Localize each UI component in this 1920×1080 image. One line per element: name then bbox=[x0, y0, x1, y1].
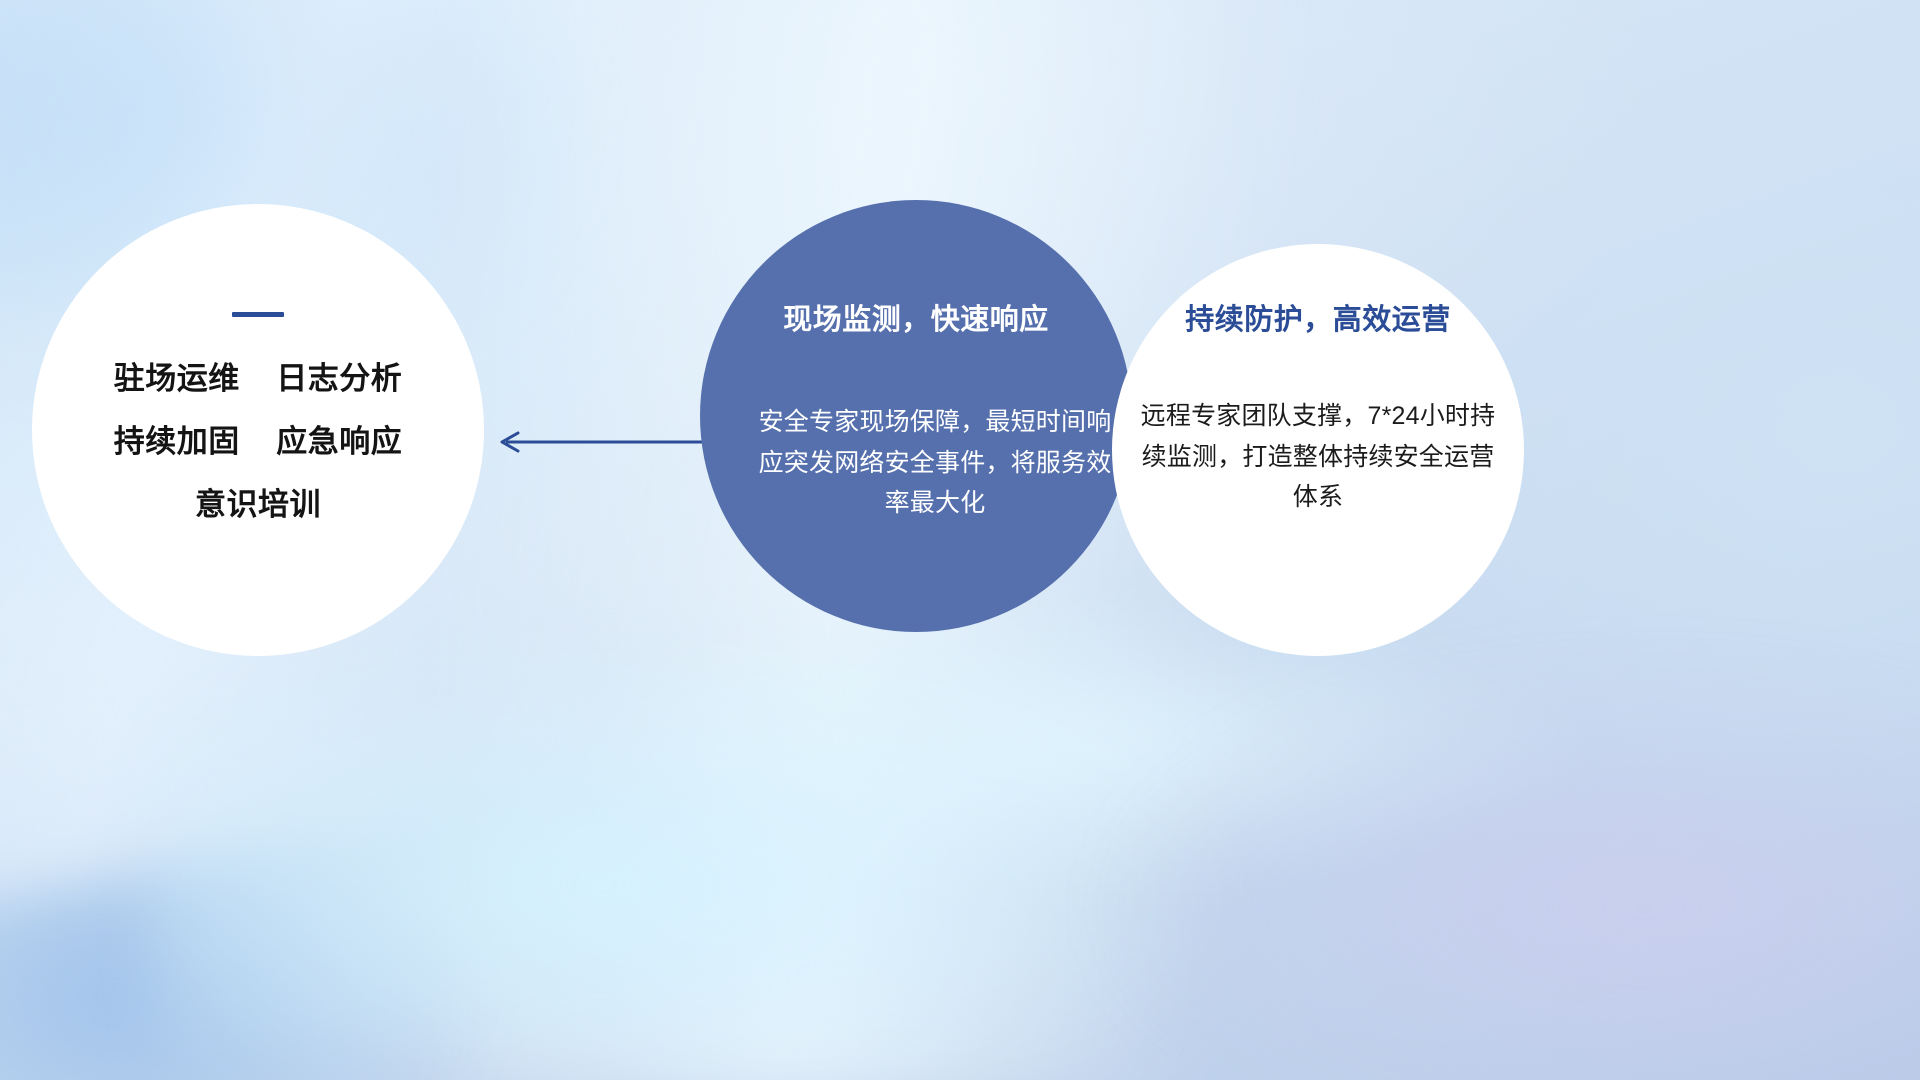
capability-line-3: 意识培训 bbox=[32, 489, 484, 520]
continuous-protection-title: 持续防护，高效运营 bbox=[1112, 296, 1524, 338]
onsite-monitoring-title: 现场监测，快速响应 bbox=[700, 296, 1132, 338]
onsite-monitoring-body: 安全专家现场保障，最短时间响应突发网络安全事件，将服务效率最大化 bbox=[752, 402, 1118, 524]
continuous-protection-body: 远程专家团队支撑，7*24小时持续监测，打造整体持续安全运营体系 bbox=[1134, 396, 1502, 518]
slide-canvas: 驻场运维 日志分析 持续加固 应急响应 意识培训 现场监测，快速响应 安全专家现… bbox=[0, 0, 1920, 1080]
background-glow-lavender bbox=[1114, 670, 1920, 1080]
continuous-protection-circle[interactable]: 持续防护，高效运营 远程专家团队支撑，7*24小时持续监测，打造整体持续安全运营… bbox=[1112, 244, 1524, 656]
capability-line-1: 驻场运维 日志分析 bbox=[32, 363, 484, 394]
capability-circle-left[interactable]: 驻场运维 日志分析 持续加固 应急响应 意识培训 bbox=[32, 204, 484, 656]
dash-divider-icon bbox=[232, 312, 284, 317]
left-circle-content: 驻场运维 日志分析 持续加固 应急响应 意识培训 bbox=[32, 312, 484, 520]
background-glow-cyan bbox=[154, 626, 1268, 1058]
capability-line-2: 持续加固 应急响应 bbox=[32, 426, 484, 457]
onsite-monitoring-circle[interactable]: 现场监测，快速响应 安全专家现场保障，最短时间响应突发网络安全事件，将服务效率最… bbox=[700, 200, 1132, 632]
